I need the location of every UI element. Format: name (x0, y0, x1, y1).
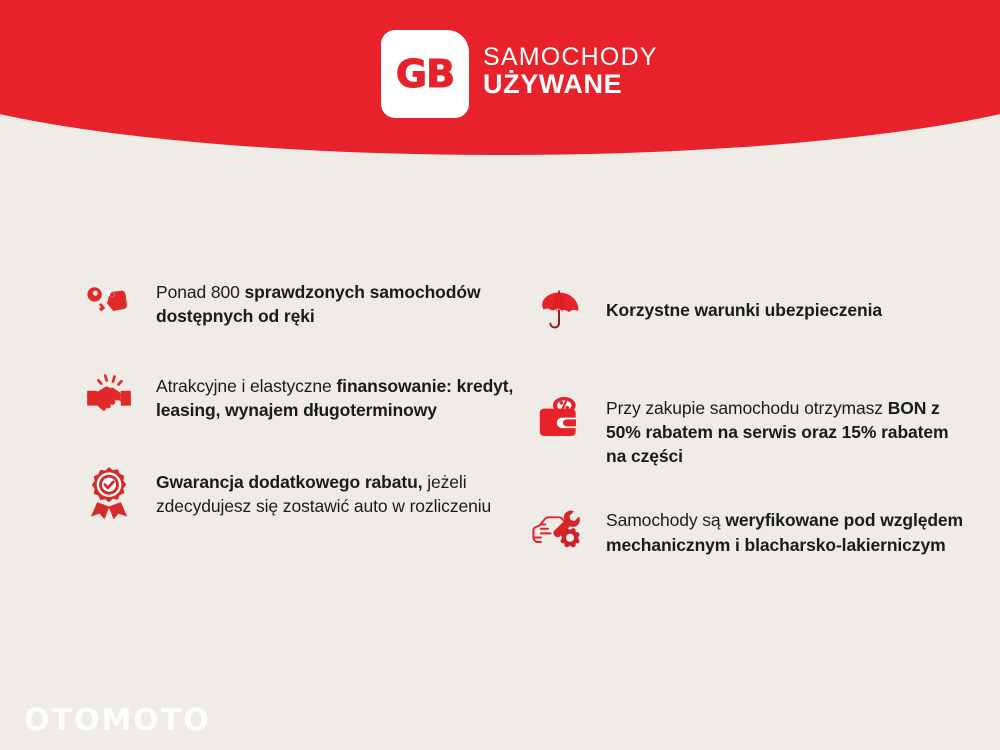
feature-item-service-voucher: Przy zakupie samochodu otrzymasz BON z 5… (528, 388, 968, 468)
feature-text: Samochody są weryfikowane pod względem m… (606, 500, 966, 556)
gb-logo-icon: GB (381, 30, 469, 118)
wallet-percent-icon (528, 388, 590, 450)
feature-item-financing: Atrakcyjne i elastyczne finansowanie: kr… (78, 366, 518, 428)
feature-text: Atrakcyjne i elastyczne finansowanie: kr… (156, 366, 516, 422)
feature-text: Przy zakupie samochodu otrzymasz BON z 5… (606, 388, 966, 468)
umbrella-icon (528, 282, 590, 344)
feature-text: Ponad 800 sprawdzonych samochodów dostęp… (156, 272, 516, 328)
car-wrench-icon (528, 500, 590, 562)
feature-text-plain: Samochody są (606, 510, 725, 530)
brand-wordmark-line1: SAMOCHODY (483, 45, 658, 71)
handshake-icon (78, 366, 140, 428)
brand-logo: GB SAMOCHODY UŻYWANE (381, 30, 658, 118)
feature-column-right: Korzystne warunki ubezpieczenia (528, 272, 968, 580)
otomoto-watermark: OTOMOTO (24, 703, 211, 738)
feature-text: Gwarancja dodatkowego rabatu, jeżeli zde… (156, 462, 516, 518)
brand-wordmark: SAMOCHODY UŻYWANE (483, 45, 658, 102)
feature-column-left: Ponad 800 sprawdzonych samochodów dostęp… (78, 272, 518, 542)
feature-item-insurance: Korzystne warunki ubezpieczenia (528, 282, 968, 344)
feature-item-trade-in-discount: Gwarancja dodatkowego rabatu, jeżeli zde… (78, 462, 518, 524)
feature-item-available-cars: Ponad 800 sprawdzonych samochodów dostęp… (78, 272, 518, 334)
feature-text-plain: Atrakcyjne i elastyczne (156, 376, 336, 396)
feature-text-plain: Ponad 800 (156, 282, 245, 302)
key-tag-icon (78, 272, 140, 334)
feature-text-bold: Korzystne warunki ubezpieczenia (606, 300, 882, 320)
feature-text: Korzystne warunki ubezpieczenia (606, 282, 882, 322)
feature-text-plain: Przy zakupie samochodu otrzymasz (606, 398, 888, 418)
brand-wordmark-line2: UŻYWANE (483, 71, 658, 99)
feature-item-verified-cars: Samochody są weryfikowane pod względem m… (528, 500, 968, 562)
gb-logo-text: GB (396, 55, 454, 93)
feature-text-bold: Gwarancja dodatkowego rabatu, (156, 472, 422, 492)
award-rosette-icon (78, 462, 140, 524)
